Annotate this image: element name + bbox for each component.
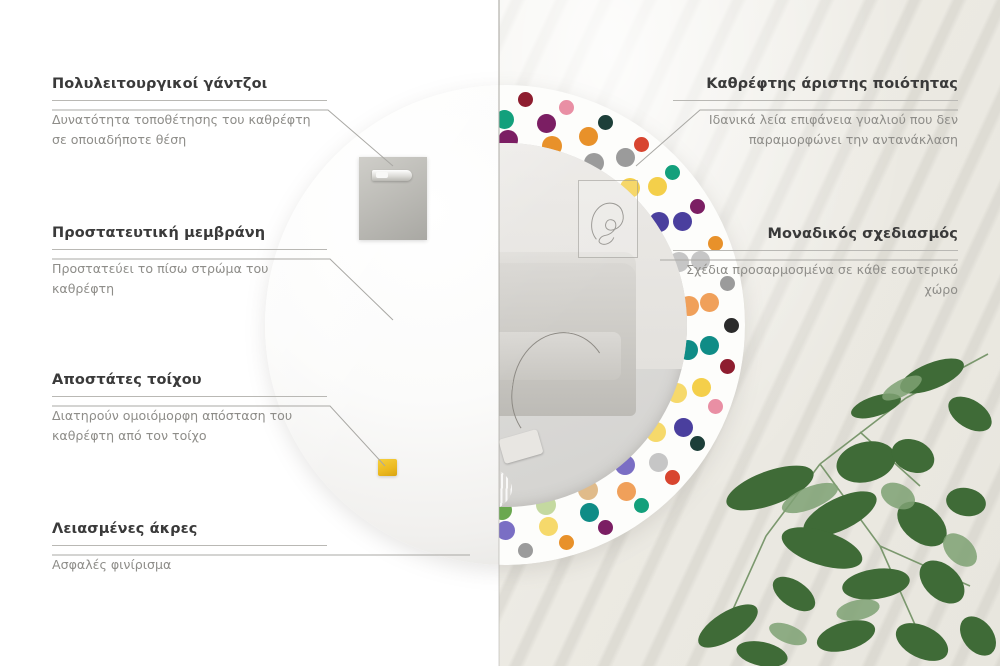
pattern-dot xyxy=(518,92,533,107)
callout-multifunctional-hooks: Πολυλειτουργικοί γάντζοι Δυνατότητα τοπο… xyxy=(52,76,327,149)
callout-rule xyxy=(52,545,327,546)
callout-description: Σχέδια προσαρμοσμένα σε κάθε εσωτερικό χ… xyxy=(673,260,958,299)
callout-wall-spacers: Αποστάτες τοίχου Διατηρούν ομοιόμορφη απ… xyxy=(52,372,327,445)
pattern-dot xyxy=(724,318,739,333)
callout-title: Αποστάτες τοίχου xyxy=(52,372,327,389)
callout-rule xyxy=(52,100,327,101)
callout-rule xyxy=(52,396,327,397)
callout-title: Μοναδικός σχεδιασμός xyxy=(673,226,958,243)
foliage-decoration xyxy=(670,336,1000,666)
callout-title: Προστατευτική μεμβράνη xyxy=(52,225,327,242)
callout-description: Προστατεύει το πίσω στρώμα του καθρέφτη xyxy=(52,259,327,298)
callout-title: Καθρέφτης άριστης ποιότητας xyxy=(673,76,958,93)
pattern-dot xyxy=(559,535,574,550)
wall-spacer xyxy=(378,459,397,476)
callout-title: Πολυλειτουργικοί γάντζοι xyxy=(52,76,327,93)
callout-rule xyxy=(673,100,958,101)
infographic-canvas: Πολυλειτουργικοί γάντζοι Δυνατότητα τοπο… xyxy=(0,0,1000,666)
callout-description: Ιδανικά λεία επιφάνεια γυαλιού που δεν π… xyxy=(673,110,958,149)
pattern-dot xyxy=(598,520,613,535)
pattern-dot xyxy=(539,517,558,536)
pattern-dot xyxy=(559,100,574,115)
callout-description: Ασφαλές φινίρισμα xyxy=(52,555,327,575)
pattern-dot xyxy=(537,114,556,133)
callout-rule xyxy=(52,249,327,250)
callout-description: Δυνατότητα τοποθέτησης του καθρέφτη σε ο… xyxy=(52,110,327,149)
callout-unique-design: Μοναδικός σχεδιασμός Σχέδια προσαρμοσμέν… xyxy=(673,226,958,299)
hook-slot xyxy=(376,172,388,178)
callout-title: Λειασμένες άκρες xyxy=(52,521,327,538)
pattern-dot xyxy=(598,115,613,130)
callout-smoothed-edges: Λειασμένες άκρες Ασφαλές φινίρισμα xyxy=(52,521,327,575)
callout-description: Διατηρούν ομοιόμορφη απόσταση του καθρέφ… xyxy=(52,406,327,445)
wall-art-frame-icon xyxy=(578,180,638,258)
callout-top-quality-mirror: Καθρέφτης άριστης ποιότητας Ιδανικά λεία… xyxy=(673,76,958,149)
callout-rule xyxy=(673,250,958,251)
split-divider xyxy=(498,0,500,666)
callout-protective-membrane: Προστατευτική μεμβράνη Προστατεύει το πί… xyxy=(52,225,327,298)
pattern-dot xyxy=(690,199,705,214)
pattern-dot xyxy=(518,543,533,558)
